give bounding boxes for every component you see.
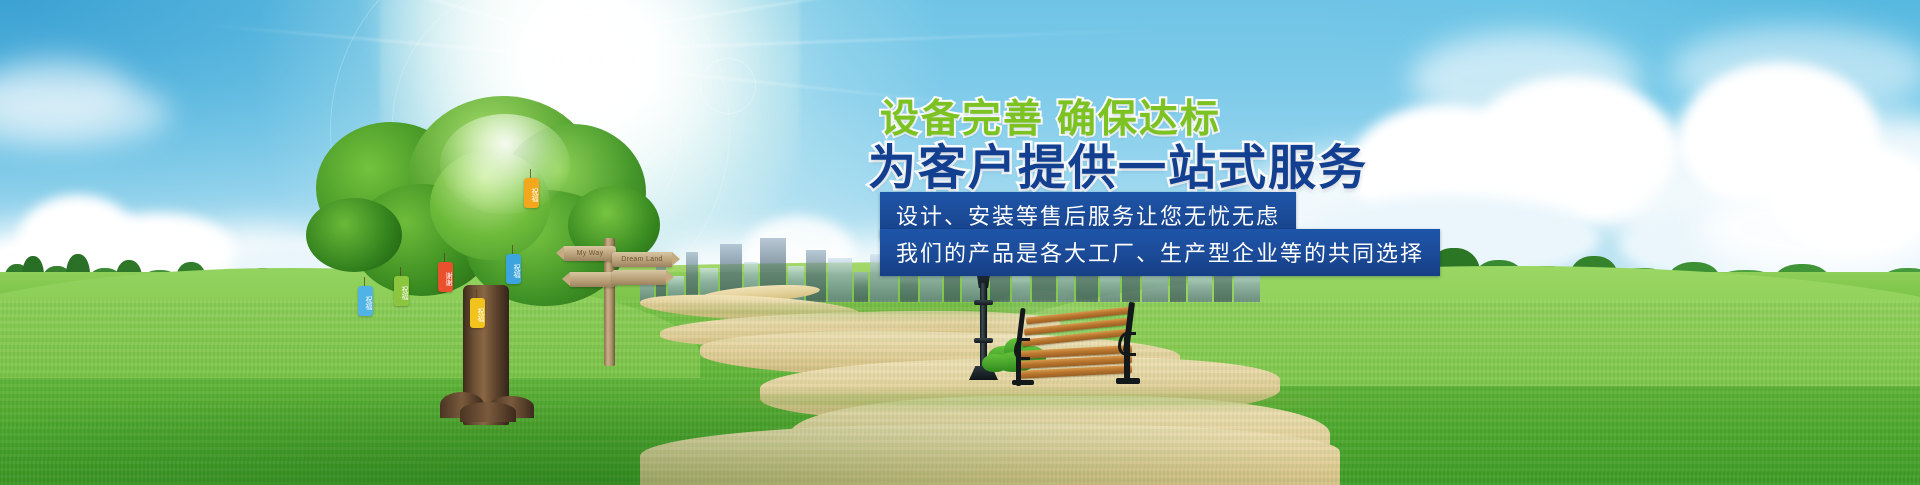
signpost-arm-my-way: My Way xyxy=(564,246,616,261)
lamp-ring xyxy=(974,300,993,305)
lamp-ring xyxy=(974,338,993,343)
wish-tag: 祝福 xyxy=(358,286,373,316)
tree-canopy-highlight xyxy=(440,114,570,214)
signpost-arm-blank xyxy=(570,272,616,287)
wish-tag: 祝福 xyxy=(470,298,485,328)
park-bench xyxy=(1012,308,1140,386)
lens-flare xyxy=(700,58,756,114)
tree-canopy xyxy=(306,198,402,272)
bench-leg xyxy=(1116,378,1140,384)
grass-shadow xyxy=(0,330,1920,485)
signpost-arm-blank xyxy=(612,270,666,285)
bench-leg xyxy=(1012,380,1034,385)
promo-banner: 祝福 祝福 谢谢 祝福 祝福 祝福 My Way Dream Land xyxy=(0,0,1920,485)
wish-tag: 祝福 xyxy=(506,254,521,284)
wish-tag: 祝福 xyxy=(394,276,409,306)
bench-armrest xyxy=(1014,338,1030,360)
wish-tag: 谢谢 xyxy=(438,262,453,292)
bench-armrest xyxy=(1118,332,1136,356)
signpost-arm-dream-land: Dream Land xyxy=(612,252,672,267)
tree-root xyxy=(460,402,516,422)
wish-tag: 祝福 xyxy=(524,178,539,208)
